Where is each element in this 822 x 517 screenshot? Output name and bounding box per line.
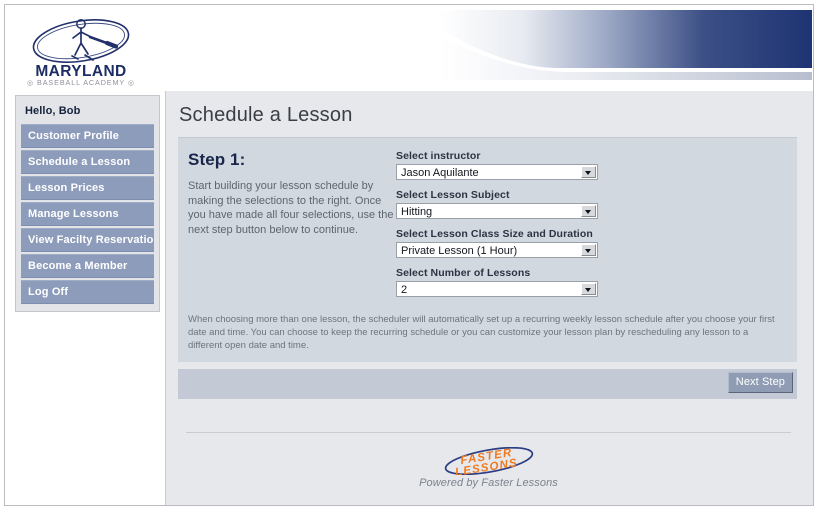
field-instructor: Select instructor Jason Aquilante — [396, 150, 785, 180]
page-footer: FASTER LESSONS Powered by Faster Lessons — [186, 432, 791, 489]
field-lesson-subject: Select Lesson Subject Hitting — [396, 189, 785, 219]
sidebar-navigation: Hello, Bob Customer Profile Schedule a L… — [15, 95, 160, 312]
class-size-duration-select[interactable]: Private Lesson (1 Hour) — [396, 242, 598, 258]
step-form-column: Select instructor Jason Aquilante Select… — [396, 150, 797, 297]
step-description-column: Step 1: Start building your lesson sched… — [178, 150, 396, 237]
page-body: Hello, Bob Customer Profile Schedule a L… — [5, 91, 813, 506]
sidebar-item-become-a-member[interactable]: Become a Member — [21, 254, 154, 278]
chevron-down-icon[interactable] — [581, 244, 596, 256]
sidebar-item-log-off[interactable]: Log Off — [21, 280, 154, 304]
step-panel: Step 1: Start building your lesson sched… — [178, 137, 797, 362]
sidebar-item-schedule-a-lesson[interactable]: Schedule a Lesson — [21, 150, 154, 174]
instructor-select[interactable]: Jason Aquilante — [396, 164, 598, 180]
class-size-duration-select-value: Private Lesson (1 Hour) — [401, 244, 577, 258]
lesson-subject-label: Select Lesson Subject — [396, 189, 785, 201]
number-of-lessons-label: Select Number of Lessons — [396, 267, 785, 279]
baseball-batter-icon — [30, 14, 131, 69]
header-banner — [440, 6, 812, 90]
logo-tagline: ◎ BASEBALL ACADEMY ◎ — [27, 78, 135, 87]
page-header: MARYLAND ◎ BASEBALL ACADEMY ◎ — [5, 5, 813, 91]
number-of-lessons-select[interactable]: 2 — [396, 281, 598, 297]
chevron-down-icon[interactable] — [581, 166, 596, 178]
chevron-down-icon[interactable] — [581, 283, 596, 295]
sidebar-item-view-facility-reservations[interactable]: View Facilty Reservations — [21, 228, 154, 252]
application-page: MARYLAND ◎ BASEBALL ACADEMY ◎ — [4, 4, 814, 506]
sidebar-item-customer-profile[interactable]: Customer Profile — [21, 124, 154, 148]
field-number-of-lessons: Select Number of Lessons 2 — [396, 267, 785, 297]
number-of-lessons-select-value: 2 — [401, 283, 577, 297]
page-title: Schedule a Lesson — [166, 91, 813, 137]
sidebar-item-lesson-prices[interactable]: Lesson Prices — [21, 176, 154, 200]
lesson-subject-select-value: Hitting — [401, 205, 577, 219]
maryland-baseball-academy-logo[interactable]: MARYLAND ◎ BASEBALL ACADEMY ◎ — [21, 13, 141, 89]
recurring-schedule-note: When choosing more than one lesson, the … — [178, 297, 797, 352]
sidebar-item-manage-lessons[interactable]: Manage Lessons — [21, 202, 154, 226]
user-greeting: Hello, Bob — [21, 102, 154, 124]
action-bar: Next Step — [178, 369, 797, 399]
step-heading: Step 1: — [188, 150, 396, 170]
class-size-duration-label: Select Lesson Class Size and Duration — [396, 228, 785, 240]
lesson-subject-select[interactable]: Hitting — [396, 203, 598, 219]
main-content: Schedule a Lesson Step 1: Start building… — [165, 91, 813, 506]
next-step-button[interactable]: Next Step — [728, 372, 793, 393]
faster-lessons-logo: FASTER LESSONS — [186, 447, 791, 475]
field-class-size-duration: Select Lesson Class Size and Duration Pr… — [396, 228, 785, 258]
chevron-down-icon[interactable] — [581, 205, 596, 217]
powered-by-text: Powered by Faster Lessons — [186, 477, 791, 489]
instructor-label: Select instructor — [396, 150, 785, 162]
step-description: Start building your lesson schedule by m… — [188, 179, 396, 237]
instructor-select-value: Jason Aquilante — [401, 166, 577, 180]
